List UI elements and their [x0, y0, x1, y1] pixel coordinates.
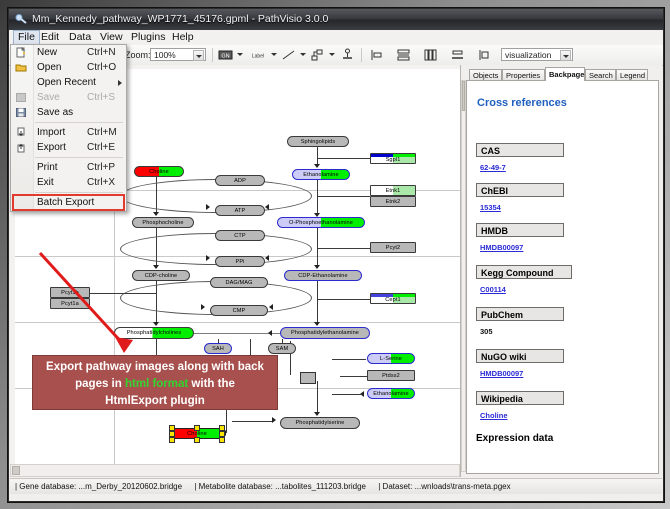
status-dataset: | Dataset: ...wnloads\trans-meta.pgex [373, 482, 515, 491]
callout-line-3: HtmlExport plugin [33, 393, 277, 410]
xref-value-kegg[interactable]: C00114 [480, 285, 506, 294]
menu-item-accel: Ctrl+E [87, 140, 115, 155]
node-label: L-Serine [380, 356, 402, 362]
connector-pcyt2 [317, 248, 370, 249]
gene-pcyt2[interactable]: Pcyt2 [370, 242, 416, 253]
menu-item-exit[interactable]: Exit Ctrl+X [11, 175, 126, 190]
xref-value-pubchem: 305 [480, 327, 493, 336]
gene-etnk2[interactable]: Etnk2 [370, 196, 416, 207]
status-metabolite-database: | Metabolite database: ...tabolites_1112… [189, 482, 371, 491]
menu-item-label: Print [37, 160, 58, 175]
interaction-dropdown-icon[interactable] [329, 53, 335, 56]
connector-etnk [317, 196, 370, 197]
xref-value-nugo[interactable]: HMDB00097 [480, 369, 523, 378]
menu-data[interactable]: Data [65, 31, 95, 44]
window-title: Mm_Kennedy_pathway_WP1771_45176.gpml - P… [32, 13, 328, 25]
menu-item-batch-export[interactable]: Batch Export [13, 195, 124, 210]
arrowhead-icon [265, 204, 269, 210]
tab-backpage[interactable]: Backpage [545, 67, 585, 81]
menu-plugins[interactable]: Plugins [127, 31, 169, 44]
annotation-arrow-icon [32, 245, 282, 363]
title-bar: Mm_Kennedy_pathway_WP1771_45176.gpml - P… [9, 9, 663, 30]
canvas-scrollbar-horizontal[interactable] [10, 464, 460, 477]
anchor-tool-icon[interactable] [340, 48, 355, 62]
metabolite-phosphatidylserine[interactable]: Phosphatidylserine [280, 417, 360, 429]
interaction-tool-icon[interactable] [310, 48, 325, 62]
backpage-content: Cross references CAS 62-49-7 ChEBI 15354… [466, 80, 659, 474]
node-label: Ethanolamine [303, 172, 338, 178]
callout-line-1: Export pathway images along with back [33, 359, 277, 376]
zoom-combo[interactable]: 100% [150, 48, 206, 61]
metabolite-o-phosphoethanolamine[interactable]: O-Phosphoethanolamine [277, 217, 365, 228]
zoom-label: Zoom: [125, 50, 151, 60]
edge-into-ps [232, 421, 272, 422]
menu-item-open[interactable]: Open Ctrl+O [11, 60, 126, 75]
metabolite-atp[interactable]: ATP [215, 205, 265, 216]
save-as-icon [15, 107, 27, 118]
menu-separator [35, 122, 123, 123]
label-tool-icon[interactable]: Label [247, 48, 269, 62]
cross-references-heading: Cross references [477, 97, 567, 109]
gene-cept1[interactable]: Cept1 [370, 293, 416, 304]
menu-item-accel: Ctrl+M [87, 125, 117, 140]
selection-handle[interactable] [219, 437, 225, 443]
menu-item-label: Open Recent [37, 75, 96, 90]
scrollbar-thumb[interactable] [462, 81, 465, 111]
selection-handle[interactable] [169, 437, 175, 443]
menu-item-accel: Ctrl+S [87, 90, 115, 105]
menu-item-new[interactable]: New Ctrl+N [11, 45, 126, 60]
zoom-value: 100% [154, 50, 176, 60]
annotation-callout: Export pathway images along with back pa… [32, 355, 278, 410]
stack-icon[interactable] [450, 48, 465, 62]
submenu-arrow-icon [118, 80, 122, 86]
visualization-combo[interactable]: visualization [501, 48, 573, 61]
selection-handle[interactable] [194, 425, 200, 431]
edge-pe-ethanolamine [332, 394, 362, 395]
visualization-value: visualization [505, 50, 551, 60]
metabolite-phosphatidylethanolamine[interactable]: Phosphatidylethanolamine [280, 327, 370, 339]
datanode-tool-icon[interactable]: GN [218, 48, 233, 62]
menu-edit[interactable]: Edit [37, 31, 63, 44]
metabolite-adp[interactable]: ADP [215, 175, 265, 186]
chevron-down-icon[interactable] [560, 50, 571, 61]
toolbar-separator [212, 48, 213, 62]
xref-header-hmdb: HMDB [476, 223, 564, 237]
arrowhead-icon [314, 164, 320, 168]
gene-sgpl1[interactable]: Sgpl1 [370, 153, 416, 164]
node-label: O-Phosphoethanolamine [289, 220, 353, 226]
xref-header-pubchem: PubChem [476, 307, 564, 321]
metabolite-cdp-ethanolamine[interactable]: CDP-Ethanolamine [284, 270, 362, 281]
node-label: Phosphocholine [142, 220, 183, 226]
menu-item-accel: Ctrl+N [87, 45, 116, 60]
group-icon[interactable] [476, 48, 491, 62]
scrollbar-thumb[interactable] [12, 466, 20, 475]
node-label: Etnk1 [386, 188, 401, 194]
edge-cdpetn-pe [317, 281, 318, 325]
menu-item-label: Import [37, 125, 65, 140]
metabolite-phosphocholine[interactable]: Phosphocholine [132, 217, 194, 228]
menu-item-accel: Ctrl+O [87, 60, 116, 75]
line-dropdown-icon[interactable] [300, 53, 306, 56]
connector-ptdss2 [340, 376, 367, 377]
arrowhead-icon [153, 212, 159, 216]
metabolite-ethanolamine-top[interactable]: Ethanolamine [292, 169, 350, 180]
import-icon [15, 127, 27, 138]
metabolite-ethanolamine-bottom[interactable]: Ethanolamine [367, 388, 415, 399]
anchor-box[interactable] [300, 372, 316, 384]
new-document-icon [15, 47, 27, 58]
node-label: Sgpl1 [386, 157, 401, 163]
file-menu-dropdown[interactable]: New Ctrl+N Open Ctrl+O Open Recent Save … [10, 44, 127, 212]
menu-item-label: Batch Export [37, 195, 94, 210]
xref-header-wikipedia: Wikipedia [476, 391, 564, 405]
side-panel: Objects Properties Backpage Search Legen… [461, 65, 662, 477]
node-label: Choline [149, 169, 169, 175]
menu-item-save: Save Ctrl+S [11, 90, 126, 105]
chevron-down-icon[interactable] [193, 50, 204, 61]
datanode-dropdown-icon[interactable] [237, 53, 243, 56]
menu-file[interactable]: File [13, 30, 40, 45]
gene-etnk1[interactable]: Etnk1 [370, 185, 416, 196]
node-label: CTP [234, 233, 246, 239]
expression-data-heading: Expression data [476, 433, 553, 444]
menu-item-accel: Ctrl+P [87, 160, 115, 175]
metabolite-choline[interactable]: Choline [134, 166, 184, 177]
menu-item-label: Save as [37, 105, 73, 120]
node-label: Etnk2 [386, 199, 401, 205]
xref-header-kegg: Kegg Compound [476, 265, 572, 279]
edge-lserine-ps [332, 359, 366, 360]
export-icon [15, 142, 27, 153]
node-label: Cept1 [385, 297, 400, 303]
menu-item-label: Open [37, 60, 61, 75]
xref-header-cas: CAS [476, 143, 564, 157]
screenshot-frame: Mm_Kennedy_pathway_WP1771_45176.gpml - P… [0, 0, 670, 509]
xref-value-hmdb[interactable]: HMDB00097 [480, 243, 523, 252]
xref-value-wikipedia[interactable]: Choline [480, 411, 508, 420]
arrowhead-icon [206, 204, 210, 210]
metabolite-l-serine[interactable]: L-Serine [367, 353, 415, 364]
arrowhead-icon [314, 322, 320, 326]
node-label: Phosphatidylserine [295, 420, 344, 426]
node-label: ATP [235, 208, 246, 214]
svg-text:GN: GN [221, 54, 229, 60]
toolbar-separator-2 [361, 48, 362, 62]
menu-item-save-as[interactable]: Save as [11, 105, 126, 120]
node-label: Ethanolamine [373, 391, 408, 397]
connector-cept1 [317, 299, 370, 300]
gene-ptdss2[interactable]: Ptdss2 [367, 370, 415, 381]
side-scrollbar-vertical[interactable] [461, 80, 466, 472]
edge-ethanolamine-ophospho [317, 180, 318, 215]
callout-line2-suffix: with the [188, 378, 235, 390]
node-label: Phosphatidylethanolamine [291, 330, 359, 336]
menu-help[interactable]: Help [168, 31, 198, 44]
xref-header-chebi: ChEBI [476, 183, 564, 197]
side-panel-tabs: Objects Properties Backpage Search Legen… [466, 67, 662, 81]
align-left-icon[interactable] [369, 48, 384, 62]
arrowhead-icon [272, 417, 276, 423]
menu-view[interactable]: View [96, 31, 127, 44]
xref-value-chebi[interactable]: 15354 [480, 203, 501, 212]
edge-pe-ps [317, 381, 318, 415]
svg-text:Label: Label [252, 54, 264, 60]
metabolite-ctp[interactable]: CTP [215, 230, 265, 241]
pathvisio-icon [15, 13, 28, 26]
pathvisio-window: Mm_Kennedy_pathway_WP1771_45176.gpml - P… [8, 8, 664, 502]
status-gene-database: | Gene database: ...m_Derby_20120602.bri… [10, 482, 187, 491]
xref-header-nugo: NuGO wiki [476, 349, 564, 363]
status-bar: | Gene database: ...m_Derby_20120602.bri… [10, 478, 662, 494]
connector-sgpl1 [317, 158, 370, 159]
node-label: CDP-Ethanolamine [298, 273, 347, 279]
align-columns-icon[interactable] [423, 48, 438, 62]
save-icon [15, 92, 27, 103]
menu-item-label: Export [37, 140, 66, 155]
menu-separator [35, 192, 123, 193]
callout-line-2: pages in html format with the [33, 376, 277, 393]
node-label: Sphingolipids [301, 139, 336, 145]
node-label: Pcyt2 [386, 245, 401, 251]
node-label: Choline [187, 431, 207, 437]
menu-item-open-recent[interactable]: Open Recent [11, 75, 126, 90]
menu-item-import[interactable]: Import Ctrl+M [11, 125, 126, 140]
callout-highlight: html format [125, 378, 188, 390]
xref-value-cas[interactable]: 62-49-7 [480, 163, 506, 172]
menu-separator [35, 157, 123, 158]
node-label: Ptdss2 [382, 373, 400, 379]
menu-item-print[interactable]: Print Ctrl+P [11, 160, 126, 175]
metabolite-sphingolipids[interactable]: Sphingolipids [287, 136, 349, 147]
line-tool-icon[interactable] [281, 48, 296, 62]
callout-line2-prefix: pages in [75, 378, 125, 390]
open-folder-icon [15, 62, 27, 73]
align-rows-icon[interactable] [396, 48, 411, 62]
menu-item-export[interactable]: Export Ctrl+E [11, 140, 126, 155]
menu-item-label: New [37, 45, 57, 60]
selection-handle[interactable] [194, 437, 200, 443]
arrowhead-icon [314, 412, 320, 416]
menu-item-label: Exit [37, 175, 54, 190]
node-label: ADP [234, 178, 246, 184]
menu-item-label: Save [37, 90, 60, 105]
menu-item-accel: Ctrl+X [87, 175, 115, 190]
label-dropdown-icon[interactable] [271, 53, 277, 56]
arrowhead-icon [314, 265, 320, 269]
